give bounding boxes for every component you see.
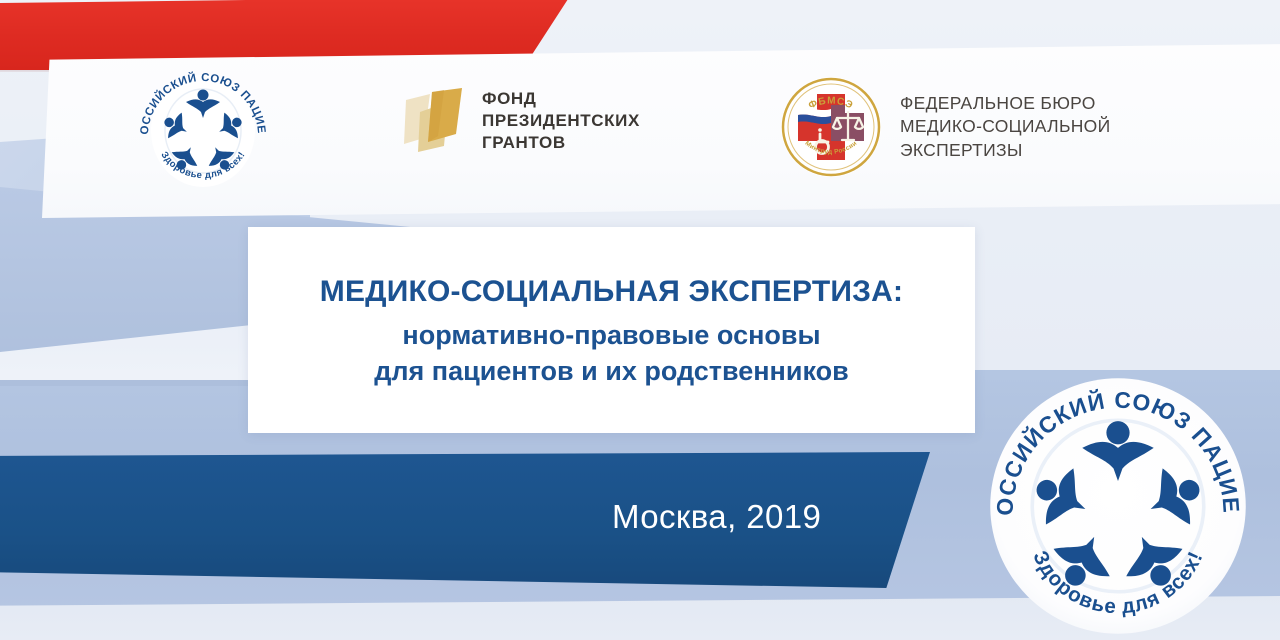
vsp-circle-emblem-large-icon: ВСЕРОССИЙСКИЙ СОЮЗ ПАЦИЕНТОВ Здоровье дл… xyxy=(984,372,1252,640)
slide-subtitle-line-1: нормативно-правовые основы xyxy=(374,318,848,354)
pgf-line-2: ПРЕЗИДЕНТСКИХ xyxy=(482,110,640,132)
fbmse-line-1: ФЕДЕРАЛЬНОЕ БЮРО xyxy=(900,92,1110,115)
pgf-line-3: ГРАНТОВ xyxy=(482,132,640,154)
presentation-slide: ВСЕРОССИЙСКИЙ СОЮЗ ПАЦИЕНТОВ Здоровье дл… xyxy=(0,0,1280,640)
vsp-circle-emblem-icon: ВСЕРОССИЙСКИЙ СОЮЗ ПАЦИЕНТОВ Здоровье дл… xyxy=(128,70,278,192)
presidential-grants-fund-text: ФОНД ПРЕЗИДЕНТСКИХ ГРАНТОВ xyxy=(482,88,640,154)
fbmse-cross-emblem-icon: ФБМСЭ Минтруд России xyxy=(778,74,884,180)
partner-logo-fbmse: ФБМСЭ Минтруд России ФЕДЕРАЛЬНОЕ БЮРО МЕ… xyxy=(778,74,1110,180)
partner-logo-presidential-grants-fund: ФОНД ПРЕЗИДЕНТСКИХ ГРАНТОВ xyxy=(404,86,640,156)
vsp-emblem-large: ВСЕРОССИЙСКИЙ СОЮЗ ПАЦИЕНТОВ Здоровье дл… xyxy=(984,372,1252,640)
pgf-line-1: ФОНД xyxy=(482,88,640,110)
presidential-grants-ribbon-icon xyxy=(404,86,470,156)
slide-title: МЕДИКО-СОЦИАЛЬНАЯ ЭКСПЕРТИЗА: xyxy=(320,275,903,309)
slide-subtitle: нормативно-правовые основы для пациентов… xyxy=(374,318,848,389)
fbmse-line-2: МЕДИКО-СОЦИАЛЬНОЙ xyxy=(900,115,1110,138)
title-card: МЕДИКО-СОЦИАЛЬНАЯ ЭКСПЕРТИЗА: нормативно… xyxy=(248,227,975,433)
fbmse-text: ФЕДЕРАЛЬНОЕ БЮРО МЕДИКО-СОЦИАЛЬНОЙ ЭКСПЕ… xyxy=(900,92,1110,162)
fbmse-line-3: ЭКСПЕРТИЗЫ xyxy=(900,139,1110,162)
partner-logo-vsp: ВСЕРОССИЙСКИЙ СОЮЗ ПАЦИЕНТОВ Здоровье дл… xyxy=(128,70,278,192)
slide-subtitle-line-2: для пациентов и их родственников xyxy=(374,354,848,390)
partner-logos-row: ВСЕРОССИЙСКИЙ СОЮЗ ПАЦИЕНТОВ Здоровье дл… xyxy=(0,56,1280,206)
place-and-year: Москва, 2019 xyxy=(612,498,821,536)
